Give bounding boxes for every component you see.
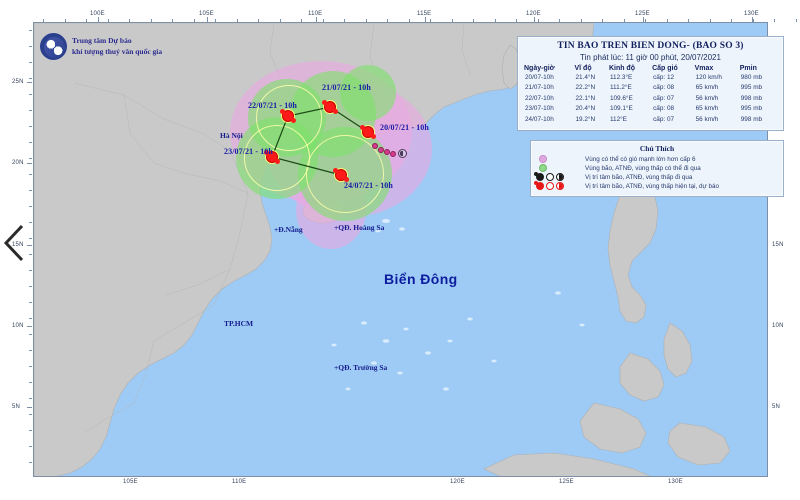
lat-tick-right-4: 5N xyxy=(772,404,780,410)
storm-forecast-map-page: 20/07/21 - 10h 21/07/21 - 10h 22/07/21 -… xyxy=(0,0,800,500)
axis-tick xyxy=(710,19,711,22)
forecast-row: 23/07-10h20.4°N109.1°Ecấp: 0865 km/h995 … xyxy=(524,104,777,114)
track-label-20jul: 20/07/21 - 10h xyxy=(380,123,429,132)
forecast-col-1: Vĩ độ xyxy=(574,65,608,73)
place-text-hoang-sa: QĐ. Hoàng Sa xyxy=(338,223,384,232)
axis-tick xyxy=(258,19,259,22)
storm-position-24jul[interactable] xyxy=(335,169,347,181)
legend-symbol-group xyxy=(536,182,580,190)
legend-item-label: Vị trí tâm bão, ATNĐ, vùng thấp hiện tại… xyxy=(585,183,719,190)
forecast-table-header: Ngày-giờVĩ độKinh độCấp gióVmaxPmin xyxy=(524,65,777,73)
forecast-row: 22/07-10h22.1°N109.6°Ecấp: 0756 km/h998 … xyxy=(524,94,777,104)
axis-tick xyxy=(301,19,302,22)
axis-tick xyxy=(29,206,32,207)
axis-tick xyxy=(774,19,775,22)
axis-tick xyxy=(29,46,32,47)
axis-tick xyxy=(29,318,32,319)
axis-tick xyxy=(86,19,87,22)
sea-label-bien-dong: Biển Đông xyxy=(384,271,458,287)
axis-tick xyxy=(194,19,195,22)
axis-tick xyxy=(207,17,208,22)
axis-tick xyxy=(29,350,32,351)
forecast-row: 24/07-10h19.2°N112°Ecấp: 0756 km/h998 mb xyxy=(524,115,777,125)
axis-tick xyxy=(172,19,173,22)
legend-item-label: Vùng có thể có gió mạnh lớn hơn cấp 6 xyxy=(585,156,695,163)
track-label-21jul: 21/07/21 - 10h xyxy=(322,83,371,92)
forecast-cell-2-2: 109.6°E xyxy=(609,94,652,104)
axis-tick xyxy=(430,19,431,22)
place-label-truong-sa: +QĐ. Trường Sa xyxy=(334,363,387,372)
legend-item: Vị trí tâm bão, ATNĐ, vùng thấp đi qua xyxy=(536,173,778,181)
lon-tick-bottom-2: 120E xyxy=(450,479,465,485)
legend-item: Vị trí tâm bão, ATNĐ, vùng thấp hiện tại… xyxy=(536,182,778,190)
forecast-cell-0-5: 980 mb xyxy=(740,73,777,83)
axis-tick xyxy=(215,19,216,22)
storm-past-filled-icon xyxy=(536,173,544,181)
panel-subtitle: Tin phát lúc: 11 giờ 00 phút, 20/07/2021 xyxy=(524,53,777,62)
forecast-cell-0-1: 21.4°N xyxy=(574,73,608,83)
axis-tick xyxy=(452,19,453,22)
forecast-cell-1-5: 995 mb xyxy=(740,83,777,93)
axis-tick xyxy=(796,19,797,22)
axis-tick xyxy=(323,19,324,22)
lon-tick-bottom-4: 130E xyxy=(668,479,683,485)
organization-logo: Trung tâm Dự báo khí tượng thuỷ văn quốc… xyxy=(40,33,162,60)
forecast-cell-1-4: 65 km/h xyxy=(695,83,740,93)
forecast-row: 20/07-10h21.4°N112.3°Ecấp: 12120 km/h980… xyxy=(524,73,777,83)
legend-item-label: Vùng bão, ATNĐ, vùng thấp có thể đi qua xyxy=(585,165,701,172)
axis-tick xyxy=(29,462,32,463)
legend-panel: Chú Thích Vùng có thể có gió mạnh lớn hơ… xyxy=(530,140,784,197)
forecast-cell-0-2: 112.3°E xyxy=(609,73,652,83)
axis-tick xyxy=(645,19,646,22)
axis-tick xyxy=(29,430,32,431)
axis-tick xyxy=(643,17,644,22)
past-position-4 xyxy=(390,151,396,157)
axis-tick xyxy=(473,19,474,22)
forecast-cell-3-5: 995 mb xyxy=(740,104,777,114)
legend-symbol-group xyxy=(536,173,580,181)
axis-tick xyxy=(538,19,539,22)
axis-tick xyxy=(602,19,603,22)
axis-tick xyxy=(29,62,32,63)
place-label-ha-noi: Hà Nội xyxy=(220,131,243,140)
place-text-da-nang: Đ.Nẵng xyxy=(278,225,302,234)
axis-tick xyxy=(27,326,32,327)
axis-tick xyxy=(667,19,668,22)
axis-tick xyxy=(29,94,32,95)
axis-tick xyxy=(29,254,32,255)
axis-tick xyxy=(29,270,32,271)
left-arrow-marker-icon xyxy=(2,222,28,264)
forecast-cell-4-0: 24/07-10h xyxy=(524,115,574,125)
axis-tick xyxy=(29,158,32,159)
legend-symbol-group xyxy=(536,164,580,172)
axis-tick xyxy=(29,382,32,383)
axis-tick xyxy=(316,17,317,22)
past-position-symbol xyxy=(398,149,407,158)
axis-tick xyxy=(29,334,32,335)
legend-item-label: Vị trí tâm bão, ATNĐ, vùng thấp đi qua xyxy=(585,174,692,181)
past-position-1 xyxy=(372,143,378,149)
axis-tick xyxy=(624,19,625,22)
forecast-cell-2-3: cấp: 07 xyxy=(652,94,695,104)
axis-tick xyxy=(425,17,426,22)
lat-tick-left-4: 5N xyxy=(12,404,20,410)
forecast-col-0: Ngày-giờ xyxy=(524,65,574,73)
legend-symbol-group xyxy=(536,155,580,163)
forecast-cell-1-1: 22.2°N xyxy=(574,83,608,93)
axis-tick xyxy=(731,19,732,22)
axis-tick xyxy=(43,19,44,22)
lat-tick-left-0: 25N xyxy=(12,79,24,85)
pink-swatch-icon xyxy=(539,155,547,163)
forecast-cell-3-0: 23/07-10h xyxy=(524,104,574,114)
forecast-cell-4-2: 112°E xyxy=(609,115,652,125)
axis-tick xyxy=(516,19,517,22)
axis-tick xyxy=(688,19,689,22)
legend-item: Vùng bão, ATNĐ, vùng thấp có thể đi qua xyxy=(536,164,778,172)
legend-item: Vùng có thể có gió mạnh lớn hơn cấp 6 xyxy=(536,155,778,163)
axis-tick xyxy=(29,126,32,127)
forecast-cell-2-0: 22/07-10h xyxy=(524,94,574,104)
weather-center-logo-icon xyxy=(40,33,67,60)
forecast-cell-1-0: 21/07-10h xyxy=(524,83,574,93)
forecast-cell-2-4: 56 km/h xyxy=(695,94,740,104)
track-label-24jul: 24/07/21 - 10h xyxy=(344,181,393,190)
axis-tick xyxy=(29,110,32,111)
axis-tick xyxy=(27,407,32,408)
lat-tick-right-3: 10N xyxy=(772,323,784,329)
forecast-cell-4-1: 19.2°N xyxy=(574,115,608,125)
axis-tick xyxy=(753,19,754,22)
org-line-1: Trung tâm Dự báo xyxy=(72,36,162,46)
axis-tick xyxy=(29,238,32,239)
lon-tick-bottom-1: 110E xyxy=(232,479,246,485)
lon-tick-bottom-3: 125E xyxy=(559,479,574,485)
axis-tick xyxy=(559,19,560,22)
axis-tick xyxy=(29,446,32,447)
axis-tick xyxy=(29,302,32,303)
org-line-2: khí tượng thuỷ văn quốc gia xyxy=(72,47,162,57)
place-label-tp-hcm: TP.HCM xyxy=(224,319,253,328)
place-label-hoang-sa: +QĐ. Hoàng Sa xyxy=(334,223,384,232)
axis-tick xyxy=(29,30,32,31)
storm-current-half-icon xyxy=(556,182,564,190)
axis-tick xyxy=(237,19,238,22)
place-label-da-nang: +Đ.Nẵng xyxy=(274,225,303,234)
panel-title: TIN BAO TREN BIEN DONG- (BAO SO 3) xyxy=(524,41,777,51)
forecast-cell-3-4: 65 km/h xyxy=(695,104,740,114)
storm-past-half-icon xyxy=(556,173,564,181)
forecast-cell-4-4: 56 km/h xyxy=(695,115,740,125)
storm-current-open-icon xyxy=(546,182,554,190)
axis-tick xyxy=(65,19,66,22)
forecast-cell-3-2: 109.1°E xyxy=(609,104,652,114)
forecast-table: Ngày-giờVĩ độKinh độCấp gióVmaxPmin 20/0… xyxy=(524,65,777,125)
axis-tick xyxy=(581,19,582,22)
axis-tick xyxy=(409,19,410,22)
green-swatch-icon xyxy=(539,164,547,172)
axis-tick xyxy=(29,366,32,367)
axis-tick xyxy=(495,19,496,22)
storm-position-20jul[interactable] xyxy=(362,126,374,138)
axis-tick xyxy=(29,222,32,223)
forecast-cell-4-3: cấp: 07 xyxy=(652,115,695,125)
axis-tick xyxy=(280,19,281,22)
axis-tick xyxy=(29,398,32,399)
organization-name: Trung tâm Dự báo khí tượng thuỷ văn quốc… xyxy=(72,36,162,56)
forecast-cell-0-4: 120 km/h xyxy=(695,73,740,83)
axis-tick xyxy=(29,190,32,191)
storm-past-open-icon xyxy=(546,173,554,181)
axis-tick xyxy=(29,78,32,79)
legend-title: Chú Thích xyxy=(536,144,778,153)
forecast-col-2: Kinh độ xyxy=(609,65,652,73)
lon-tick-bottom-0: 105E xyxy=(123,479,138,485)
storm-position-21jul[interactable] xyxy=(324,101,336,113)
axis-tick xyxy=(366,19,367,22)
axis-tick xyxy=(108,19,109,22)
axis-tick xyxy=(29,174,32,175)
forecast-cell-3-1: 20.4°N xyxy=(574,104,608,114)
forecast-cell-1-2: 111.2°E xyxy=(609,83,652,93)
storm-info-panel: TIN BAO TREN BIEN DONG- (BAO SO 3) Tin p… xyxy=(517,36,784,131)
axis-tick xyxy=(29,286,32,287)
axis-tick xyxy=(29,142,32,143)
track-label-23jul: 23/07/21 - 10h xyxy=(224,147,273,156)
forecast-cell-2-1: 22.1°N xyxy=(574,94,608,104)
forecast-cell-1-3: cấp: 08 xyxy=(652,83,695,93)
place-text-truong-sa: QĐ. Trường Sa xyxy=(338,363,387,372)
storm-current-filled-icon xyxy=(536,182,544,190)
lat-tick-right-2: 15N xyxy=(772,242,784,248)
forecast-col-4: Vmax xyxy=(695,65,740,73)
lat-tick-left-3: 10N xyxy=(12,323,24,329)
axis-tick xyxy=(387,19,388,22)
forecast-cell-3-3: cấp: 08 xyxy=(652,104,695,114)
axis-tick xyxy=(344,19,345,22)
axis-tick xyxy=(27,163,32,164)
axis-tick xyxy=(27,82,32,83)
forecast-col-3: Cấp gió xyxy=(652,65,695,73)
forecast-col-5: Pmin xyxy=(740,65,777,73)
forecast-cell-0-3: cấp: 12 xyxy=(652,73,695,83)
axis-tick xyxy=(98,17,99,22)
storm-position-22jul[interactable] xyxy=(282,110,294,122)
forecast-row: 21/07-10h22.2°N111.2°Ecấp: 0865 km/h995 … xyxy=(524,83,777,93)
track-label-22jul: 22/07/21 - 10h xyxy=(248,101,297,110)
axis-tick xyxy=(29,414,32,415)
axis-tick xyxy=(151,19,152,22)
lat-tick-left-1: 20N xyxy=(12,160,24,166)
forecast-cell-0-0: 20/07-10h xyxy=(524,73,574,83)
axis-tick xyxy=(129,19,130,22)
track-zone-green-5 xyxy=(340,65,396,121)
axis-tick xyxy=(534,17,535,22)
forecast-cell-2-5: 998 mb xyxy=(740,94,777,104)
forecast-cell-4-5: 998 mb xyxy=(740,115,777,125)
